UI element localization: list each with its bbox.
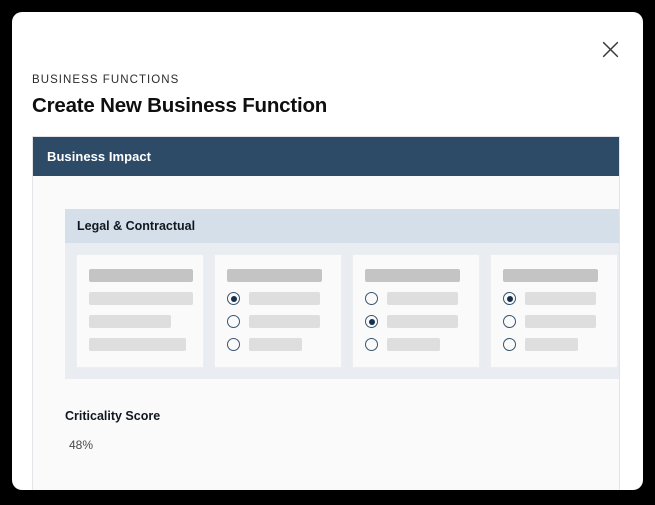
radio-button[interactable] <box>227 338 240 351</box>
criticality-score-value: 48% <box>65 438 619 452</box>
option-card-2[interactable] <box>214 254 342 368</box>
option-card-3[interactable] <box>352 254 480 368</box>
radio-button-selected[interactable] <box>227 292 240 305</box>
skeleton-title-bar <box>365 269 460 282</box>
radio-option-row[interactable] <box>227 338 329 351</box>
section-banner: Business Impact <box>33 137 619 176</box>
criticality-score-label: Criticality Score <box>65 409 619 423</box>
radio-button[interactable] <box>365 338 378 351</box>
close-icon[interactable] <box>595 34 625 64</box>
radio-option-row[interactable] <box>365 315 467 328</box>
breadcrumb: BUSINESS FUNCTIONS <box>32 72 592 88</box>
criticality-score-block: Criticality Score 48% <box>65 409 619 452</box>
skeleton-option-label <box>387 338 440 351</box>
section-body: Legal & Contractual Criticality Score 48… <box>33 209 619 452</box>
radio-button[interactable] <box>503 338 516 351</box>
create-business-function-modal: BUSINESS FUNCTIONS Create New Business F… <box>12 12 643 490</box>
question-group-legal-contractual: Legal & Contractual <box>65 209 619 379</box>
option-cards-row <box>65 243 619 379</box>
radio-option-row[interactable] <box>503 338 605 351</box>
skeleton-option-label <box>387 292 458 305</box>
radio-option-row[interactable] <box>227 292 329 305</box>
page-title: Create New Business Function <box>32 92 592 120</box>
group-header: Legal & Contractual <box>65 209 619 243</box>
radio-button[interactable] <box>227 315 240 328</box>
radio-option-row[interactable] <box>503 315 605 328</box>
skeleton-bar <box>89 292 193 305</box>
modal-header: BUSINESS FUNCTIONS Create New Business F… <box>32 72 592 120</box>
option-card-1[interactable] <box>76 254 204 368</box>
radio-option-row[interactable] <box>365 338 467 351</box>
skeleton-option-label <box>525 315 596 328</box>
radio-button-selected[interactable] <box>365 315 378 328</box>
skeleton-option-label <box>249 292 320 305</box>
skeleton-option-label <box>249 338 302 351</box>
skeleton-title-bar <box>503 269 598 282</box>
section-banner-title: Business Impact <box>47 149 151 164</box>
group-header-title: Legal & Contractual <box>77 219 195 233</box>
radio-option-row[interactable] <box>365 292 467 305</box>
radio-button[interactable] <box>503 315 516 328</box>
skeleton-title-bar <box>227 269 322 282</box>
skeleton-bar <box>89 315 171 328</box>
radio-option-row[interactable] <box>227 315 329 328</box>
skeleton-option-label <box>387 315 458 328</box>
skeleton-bar <box>89 338 186 351</box>
radio-button-selected[interactable] <box>503 292 516 305</box>
business-impact-panel: Business Impact Legal & Contractual Crit… <box>32 136 620 490</box>
skeleton-option-label <box>249 315 320 328</box>
radio-option-row[interactable] <box>503 292 605 305</box>
skeleton-option-label <box>525 292 596 305</box>
option-card-4[interactable] <box>490 254 618 368</box>
radio-button[interactable] <box>365 292 378 305</box>
skeleton-title-bar <box>89 269 193 282</box>
skeleton-option-label <box>525 338 578 351</box>
